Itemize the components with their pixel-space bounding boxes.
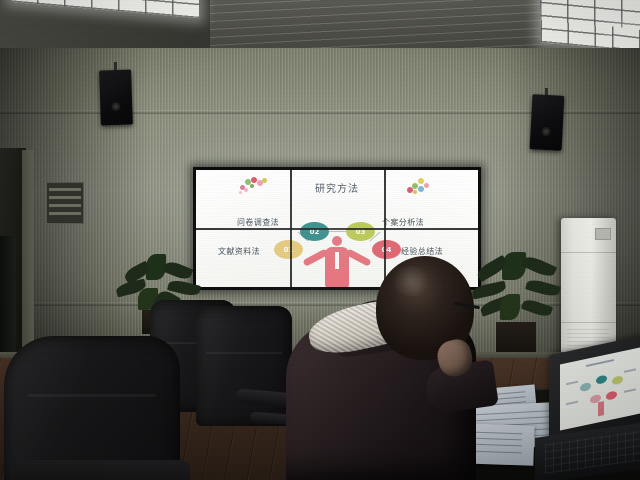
meeting-room-photo: 研究方法 问卷调查法 文献资料法 个案分析法 经验总结法 01 02 03 04 bbox=[0, 0, 640, 480]
plant-right bbox=[472, 250, 564, 360]
hair-highlight bbox=[390, 266, 432, 296]
wall-air-vent bbox=[46, 182, 84, 224]
speaker-right bbox=[530, 94, 565, 151]
seated-person bbox=[286, 256, 482, 480]
speaker-cone-icon bbox=[111, 102, 120, 111]
video-wall-bezel-horizontal bbox=[196, 228, 478, 230]
door-frame bbox=[22, 150, 34, 370]
slide-label-case-analysis: 个案分析法 bbox=[382, 217, 424, 228]
speaker-left bbox=[99, 69, 133, 125]
plant-pot-right bbox=[496, 322, 536, 356]
speaker-cone-icon bbox=[541, 127, 550, 136]
door-panel[interactable] bbox=[0, 236, 16, 370]
slide-label-literature: 文献资料法 bbox=[218, 246, 260, 257]
slide-flower-decoration-left bbox=[238, 175, 272, 197]
bubble-connector bbox=[328, 231, 348, 232]
slide-flower-decoration-right bbox=[404, 176, 438, 198]
slide-label-questionnaire: 问卷调查法 bbox=[237, 217, 279, 228]
air-conditioner-display bbox=[595, 228, 611, 240]
